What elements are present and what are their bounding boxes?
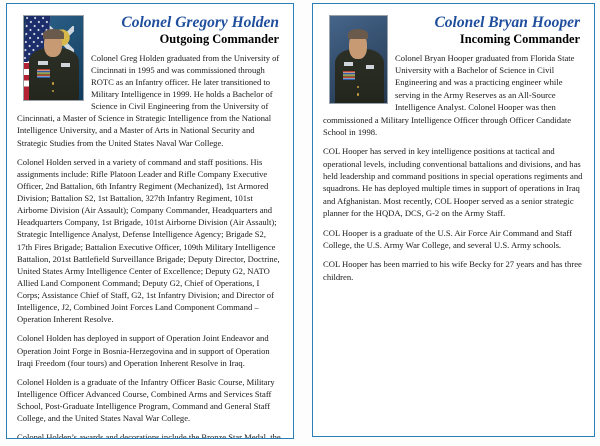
portrait-hair [348,29,368,39]
bio-sheet-page: Colonel Gregory Holden Outgoing Commande… [0,0,600,446]
ribbon-rack-icon [37,69,50,78]
ribbon-rack-icon [343,71,356,81]
colonel-gregory-holden-portrait-photo [23,15,84,101]
outgoing-bio-paragraph-4: Colonel Holden is a graduate of the Infa… [17,376,283,425]
incoming-bio-paragraph-3: COL Hooper is a graduate of the U.S. Air… [323,227,584,252]
uniform-nameplate-icon [366,65,375,69]
outgoing-commander-panel: Colonel Gregory Holden Outgoing Commande… [6,3,294,439]
colonel-bryan-hooper-portrait-photo [329,15,388,104]
uniform-badge-upper-icon [38,61,48,65]
outgoing-bio-paragraph-5: Colonel Holden’s awards and decorations … [17,431,283,439]
outgoing-bio-paragraph-3: Colonel Holden has deployed in support o… [17,332,283,368]
outgoing-bio-paragraph-2: Colonel Holden served in a variety of co… [17,156,283,326]
portrait-hair [43,29,64,39]
uniform-badge-upper-icon [344,62,354,66]
uniform-nameplate-icon [61,63,70,67]
incoming-commander-panel: Colonel Bryan Hooper Incoming Commander … [312,3,595,437]
incoming-bio-paragraph-4: COL Hooper has been married to his wife … [323,258,584,283]
incoming-bio-paragraph-2: COL Hooper has served in key intelligenc… [323,145,584,219]
